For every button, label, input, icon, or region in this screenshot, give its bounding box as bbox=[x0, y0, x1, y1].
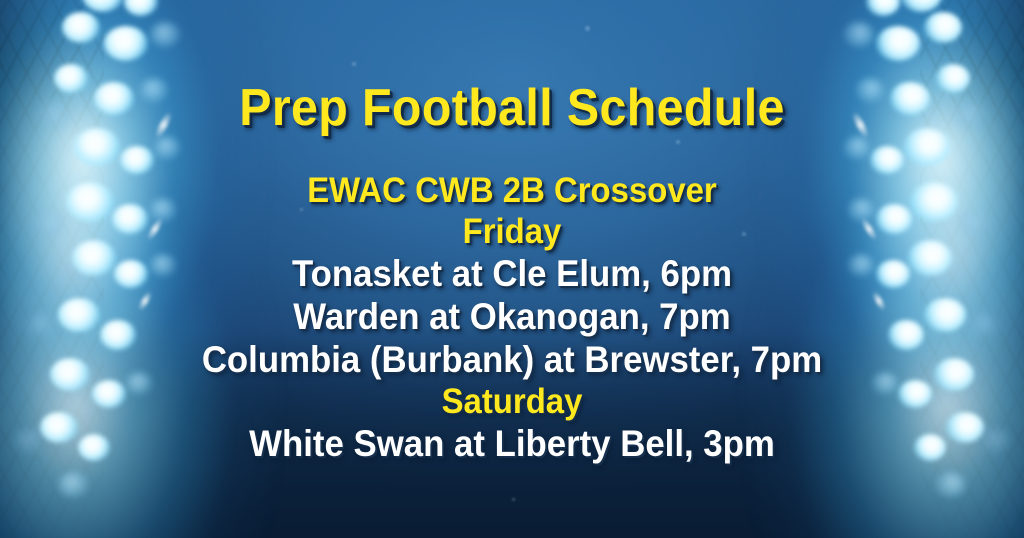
schedule-text-stack: Prep Football Schedule EWAC CWB 2B Cross… bbox=[0, 0, 1024, 538]
page-title: Prep Football Schedule bbox=[36, 82, 988, 134]
prep-football-schedule-graphic: Prep Football Schedule EWAC CWB 2B Cross… bbox=[0, 0, 1024, 538]
event-name: EWAC CWB 2B Crossover bbox=[31, 170, 994, 211]
game-listing: Tonasket at Cle Elum, 6pm bbox=[31, 252, 994, 295]
day-heading-saturday: Saturday bbox=[31, 381, 994, 422]
game-listing: Columbia (Burbank) at Brewster, 7pm bbox=[31, 338, 994, 381]
day-heading-friday: Friday bbox=[31, 211, 994, 252]
game-listing: White Swan at Liberty Bell, 3pm bbox=[31, 422, 994, 465]
schedule-body: EWAC CWB 2B Crossover Friday Tonasket at… bbox=[0, 170, 1024, 465]
game-listing: Warden at Okanogan, 7pm bbox=[31, 295, 994, 338]
